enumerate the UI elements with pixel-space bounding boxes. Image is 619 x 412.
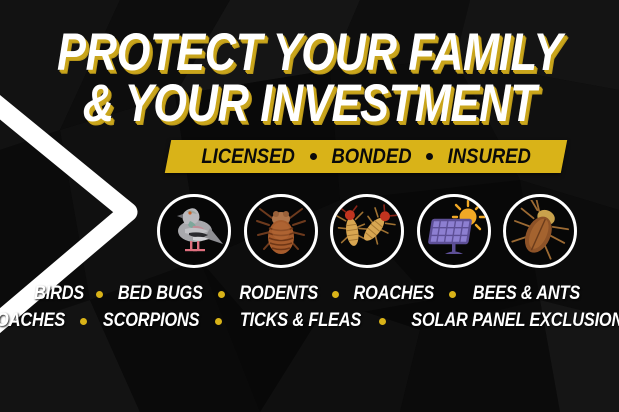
headline-line-1: PROTECT YOUR FAMILY: [56, 28, 564, 78]
service-solar-panel-exclusion: SOLAR PANEL EXCLUSION: [411, 310, 619, 332]
icon-circle-solar-panel: [417, 194, 491, 268]
pest-icon-row: [157, 193, 577, 269]
service-roaches: ROACHES: [354, 283, 435, 305]
services-list: BIRDS BED BUGS RODENTS ROACHES BEES & AN…: [0, 283, 619, 337]
credential-licensed: LICENSED: [202, 145, 295, 169]
solar-panel-icon: [423, 200, 485, 262]
services-row-2: ROACHES SCORPIONS TICKS & FLEAS SOLAR PA…: [0, 310, 619, 332]
bed-bug-icon: [251, 201, 311, 261]
service-separator-dot: [215, 318, 222, 325]
credential-bonded: BONDED: [332, 145, 412, 169]
headline-block: PROTECT YOUR FAMILY & YOUR INVESTMENT: [0, 28, 619, 129]
services-row-1: BIRDS BED BUGS RODENTS ROACHES BEES & AN…: [0, 283, 619, 305]
service-ticks-and-fleas: TICKS & FLEAS: [240, 310, 361, 332]
credentials-banner: LICENSED BONDED INSURED: [165, 140, 567, 173]
service-separator-dot: [96, 291, 103, 298]
cockroach-icon: [509, 200, 571, 262]
banner-separator-dot: [426, 153, 433, 160]
service-separator-dot: [80, 318, 87, 325]
service-bed-bugs: BED BUGS: [118, 283, 203, 305]
banner-separator-dot: [310, 153, 317, 160]
bird-pigeon-icon: [163, 200, 225, 262]
termite-icon: [336, 200, 398, 262]
service-rodents: RODENTS: [239, 283, 318, 305]
icon-circle-bird: [157, 194, 231, 268]
service-bees-and-ants: BEES & ANTS: [473, 283, 580, 305]
credential-insured: INSURED: [448, 145, 531, 169]
icon-circle-bed-bug: [244, 194, 318, 268]
service-separator-dot: [218, 291, 225, 298]
icon-circle-cockroach: [503, 194, 577, 268]
service-scorpions: SCORPIONS: [103, 310, 200, 332]
headline-line-2: & YOUR INVESTMENT: [56, 79, 564, 129]
service-separator-dot: [379, 318, 386, 325]
service-separator-dot: [449, 291, 456, 298]
icon-circle-termite: [330, 194, 404, 268]
service-birds: BIRDS: [34, 283, 84, 305]
service-roaches-2: ROACHES: [0, 310, 65, 332]
pest-control-ad-banner: PROTECT YOUR FAMILY & YOUR INVESTMENT LI…: [0, 0, 619, 412]
service-separator-dot: [332, 291, 339, 298]
